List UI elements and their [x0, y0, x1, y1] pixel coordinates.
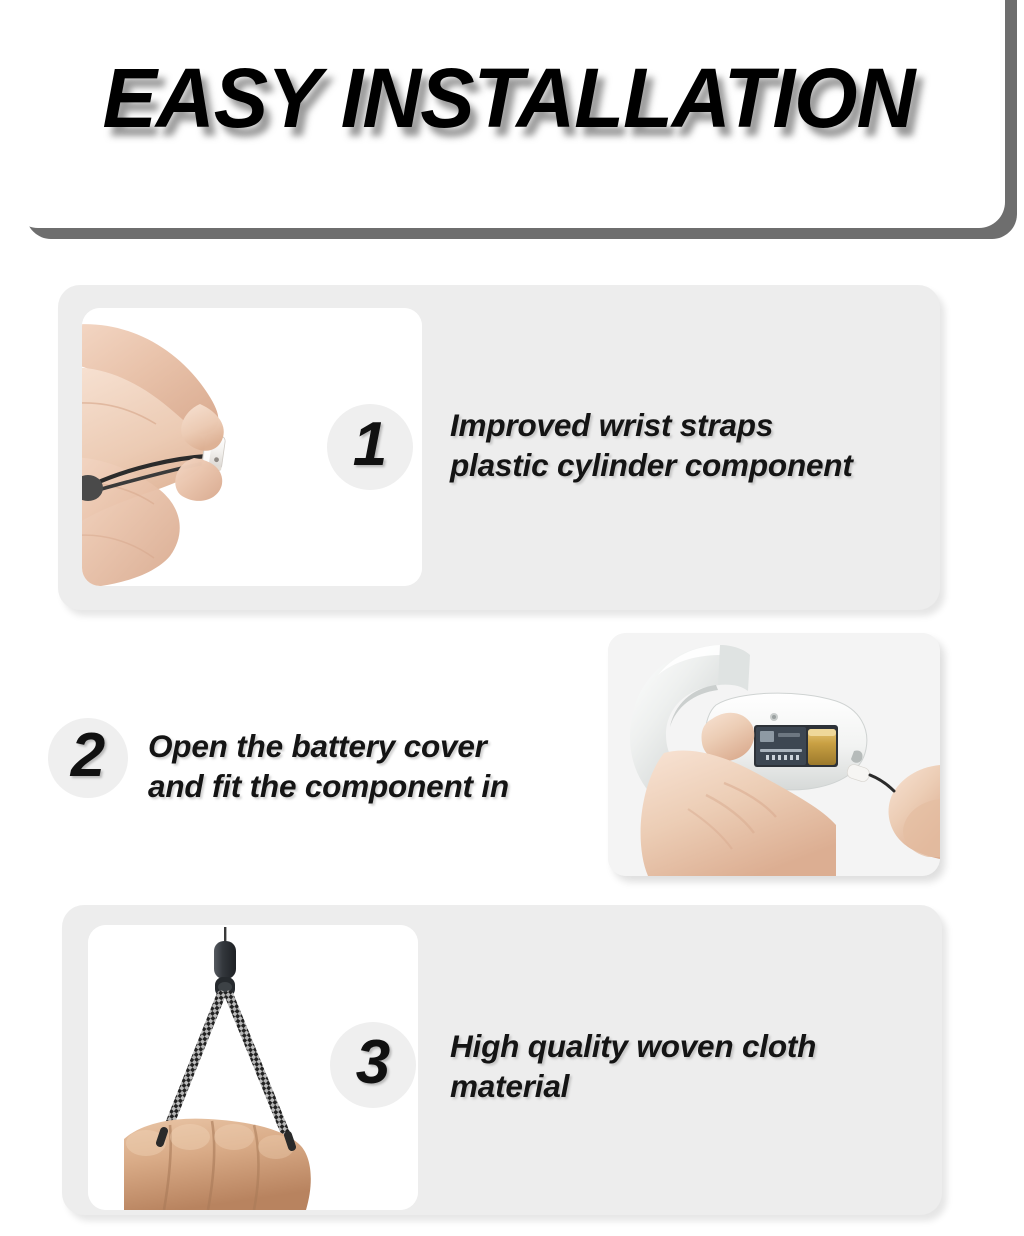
step-2-number-badge: 2: [48, 718, 128, 798]
step-3-number: 3: [356, 1032, 390, 1094]
header-banner: EASY INSTALLATION: [12, 0, 1005, 228]
page-title: EASY INSTALLATION: [27, 56, 990, 140]
step-1-description: Improved wrist straps plastic cylinder c…: [450, 405, 950, 486]
step-2-description: Open the battery cover and fit the compo…: [148, 726, 608, 807]
step-2-illustration: [608, 633, 940, 876]
step-3-number-badge: 3: [330, 1022, 416, 1108]
step-3-description: High quality woven cloth material: [450, 1026, 940, 1107]
step-2-number: 2: [71, 725, 105, 787]
hand-opening-battery-cover-photo: [608, 633, 940, 876]
step-1-number-badge: 1: [327, 404, 413, 490]
step-1-number: 1: [353, 414, 387, 476]
